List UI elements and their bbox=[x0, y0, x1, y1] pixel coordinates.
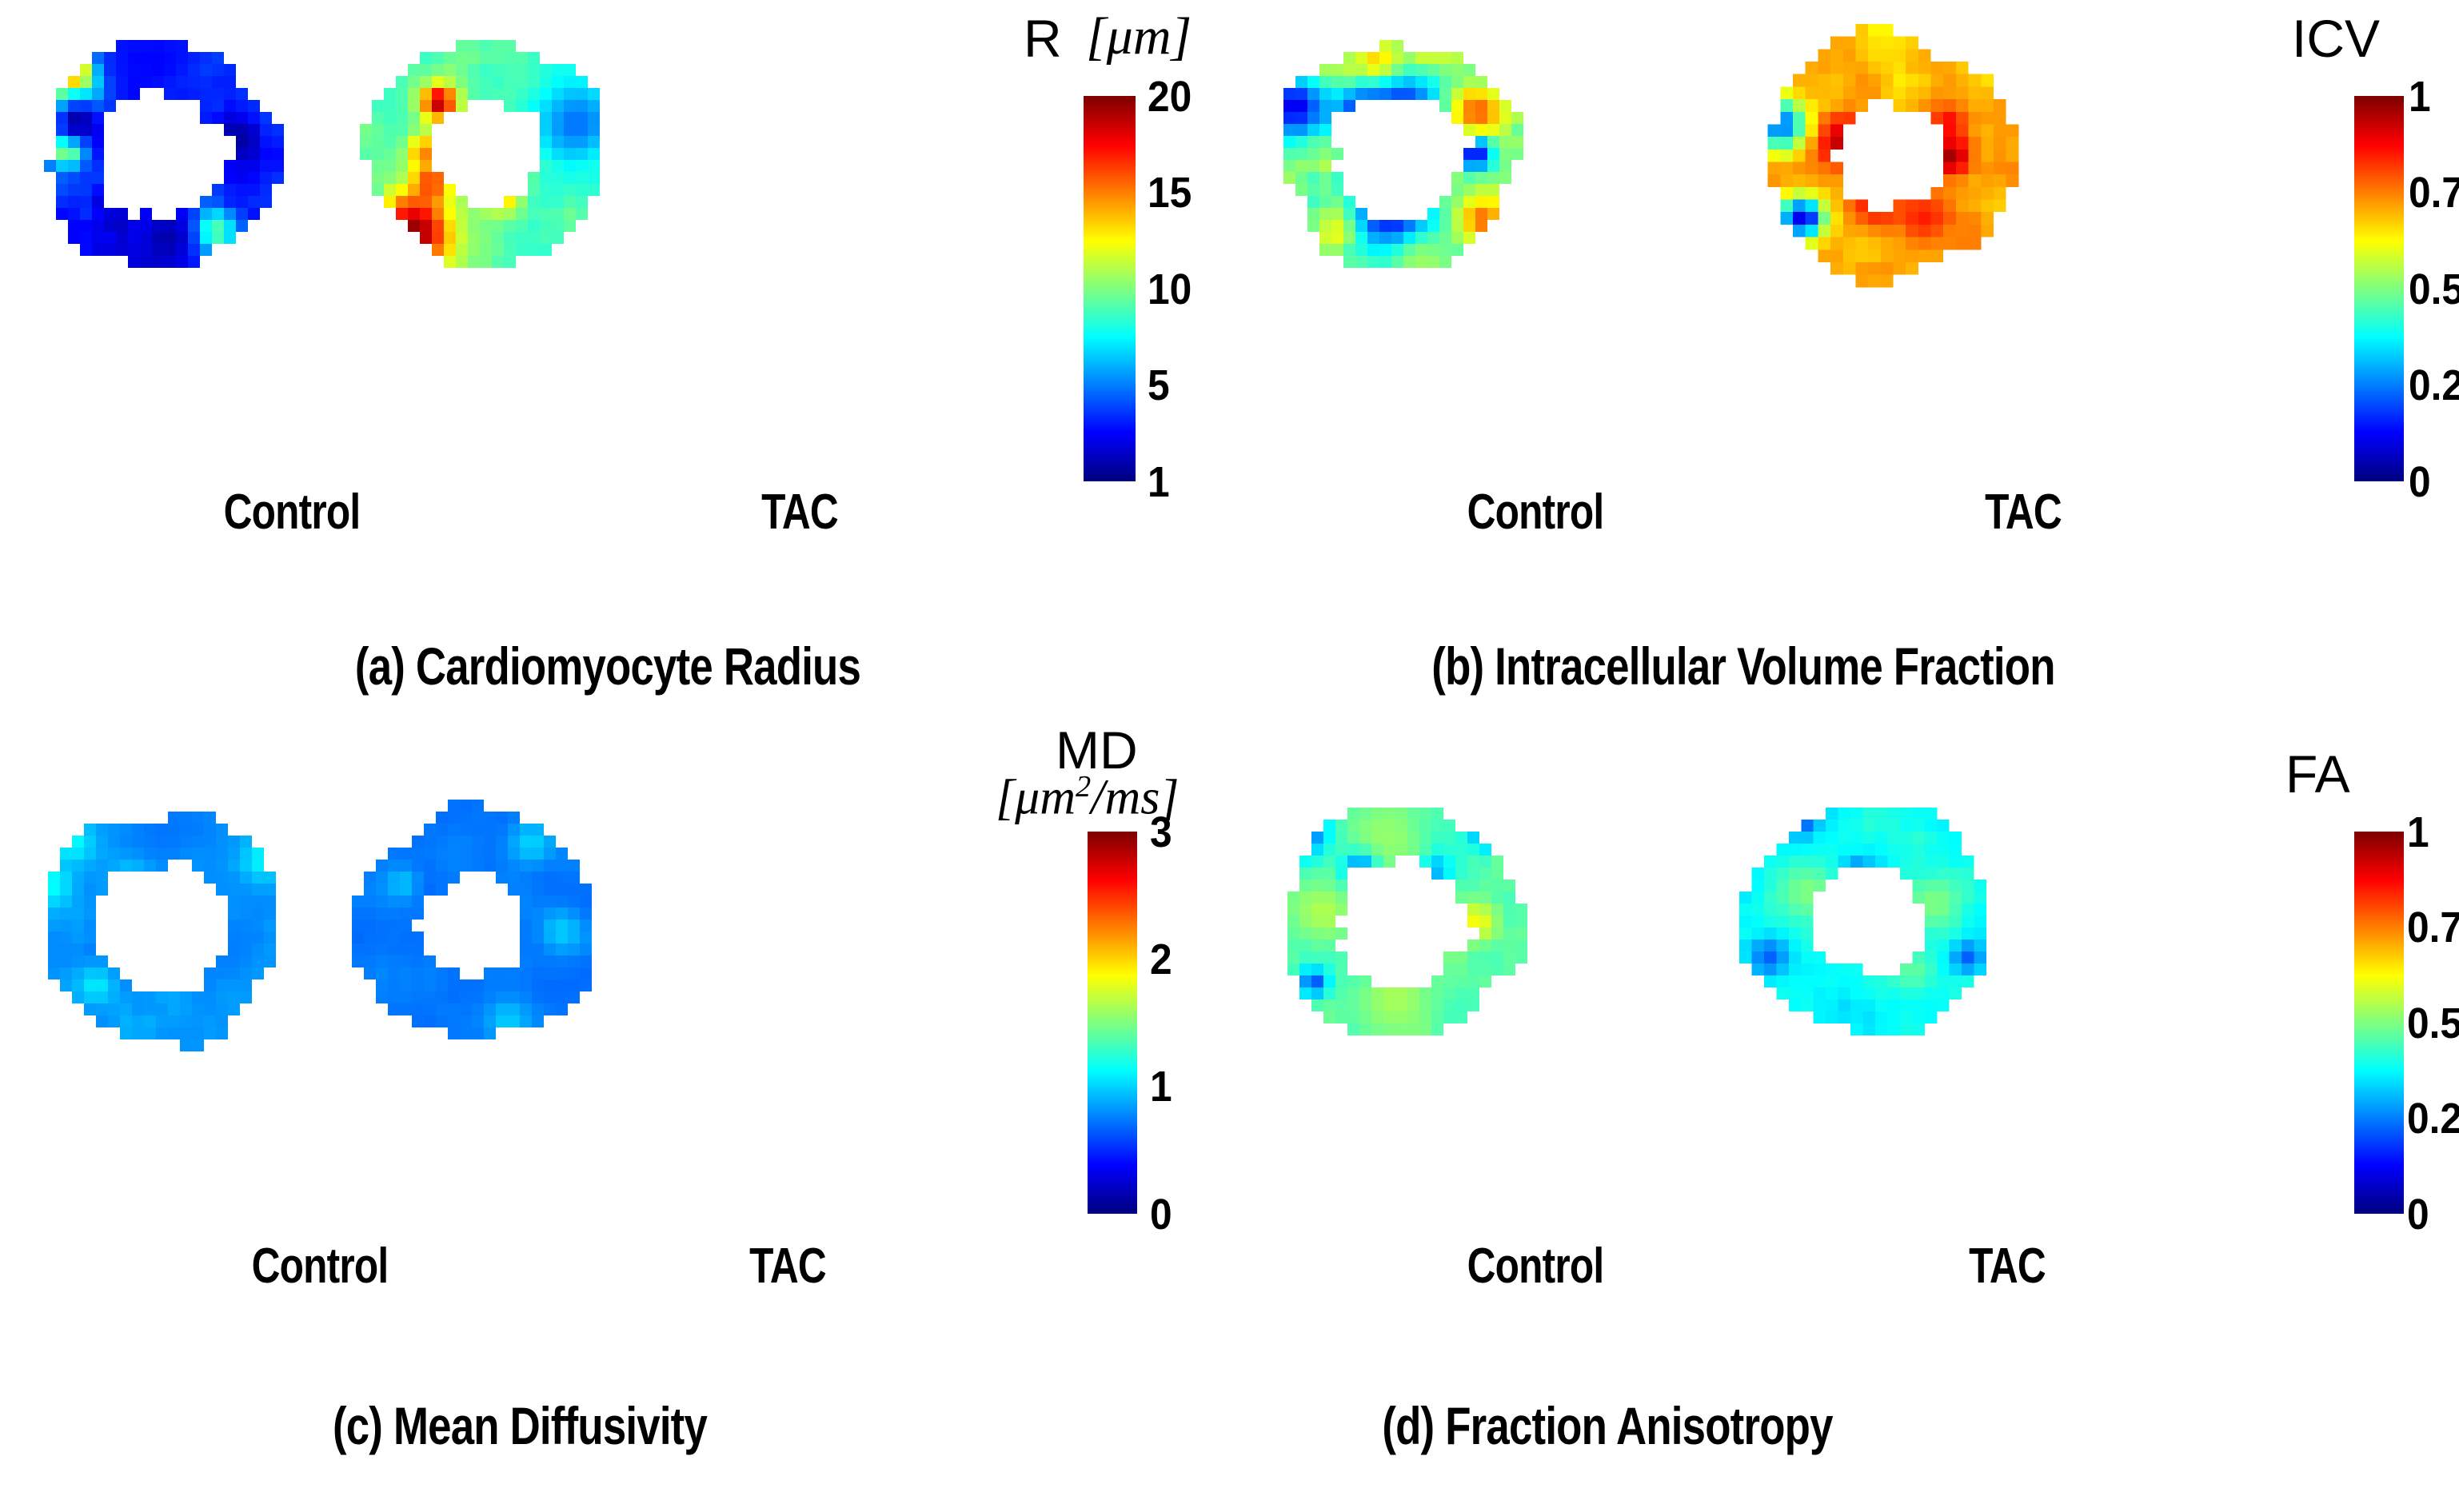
group-label-d-control: Control bbox=[1343, 1238, 1727, 1295]
colorbar-gradient-a bbox=[1084, 96, 1136, 481]
parameter-map-d-control bbox=[1275, 796, 1539, 1059]
colorbar-gradient-c bbox=[1088, 832, 1137, 1214]
colorbar-tick-d-4: 0 bbox=[2407, 1190, 2429, 1239]
panel-caption-c: (c) Mean Diffusivity bbox=[72, 1395, 968, 1456]
colorbar-title-a: R bbox=[1024, 8, 1062, 69]
colorbar-tick-c-1: 2 bbox=[1150, 935, 1172, 984]
group-label-a-tac: TAC bbox=[608, 484, 992, 541]
colorbar-title-b: ICV bbox=[2292, 8, 2380, 69]
colorbar-tick-c-2: 1 bbox=[1150, 1062, 1172, 1111]
colorbar-tick-d-3: 0.25 bbox=[2407, 1094, 2459, 1143]
colorbar-tick-b-2: 0.50 bbox=[2409, 265, 2459, 314]
colorbar-tick-b-1: 0.75 bbox=[2409, 168, 2459, 217]
colorbar-tick-d-0: 1 bbox=[2407, 808, 2429, 857]
colorbar-tick-c-3: 0 bbox=[1150, 1190, 1172, 1239]
panel-caption-a: (a) Cardiomyocyte Radius bbox=[160, 636, 1056, 696]
colorbar-tick-a-0: 20 bbox=[1148, 72, 1192, 122]
colorbar-tick-d-2: 0.50 bbox=[2407, 999, 2459, 1048]
colorbar-tick-a-1: 15 bbox=[1148, 168, 1192, 217]
group-label-b-control: Control bbox=[1343, 484, 1727, 541]
colorbar-tick-a-3: 5 bbox=[1148, 361, 1170, 410]
parameter-map-d-tac bbox=[1739, 796, 2011, 1059]
panel-caption-b: (b) Intracellular Volume Fraction bbox=[1295, 636, 2191, 696]
colorbar-gradient-b bbox=[2354, 96, 2404, 481]
group-label-c-control: Control bbox=[128, 1238, 512, 1295]
colorbar-tick-b-3: 0.25 bbox=[2409, 361, 2459, 410]
colorbar-unit-a: [μm] bbox=[1086, 6, 1192, 67]
colorbar-tick-c-0: 3 bbox=[1150, 808, 1172, 857]
colorbar-tick-a-4: 1 bbox=[1148, 457, 1170, 507]
group-label-d-tac: TAC bbox=[1815, 1238, 2199, 1295]
panel-caption-d: (d) Fraction Anisotropy bbox=[1160, 1395, 2055, 1456]
colorbar-tick-a-2: 10 bbox=[1148, 265, 1192, 314]
parameter-map-a-control bbox=[32, 28, 296, 292]
colorbar-tick-d-1: 0.75 bbox=[2407, 903, 2459, 952]
group-label-b-tac: TAC bbox=[1831, 484, 2215, 541]
colorbar-tick-b-0: 1 bbox=[2409, 72, 2431, 122]
parameter-map-b-control bbox=[1271, 28, 1535, 292]
parameter-map-b-tac bbox=[1755, 24, 2031, 300]
colorbar-tick-b-4: 0 bbox=[2409, 457, 2431, 507]
colorbar-title-d: FA bbox=[2285, 744, 2350, 804]
parameter-map-a-tac bbox=[360, 28, 624, 292]
group-label-c-tac: TAC bbox=[596, 1238, 980, 1295]
parameter-map-c-control bbox=[36, 800, 300, 1063]
parameter-map-c-tac bbox=[352, 800, 616, 1063]
group-label-a-control: Control bbox=[100, 484, 484, 541]
colorbar-gradient-d bbox=[2354, 832, 2404, 1214]
